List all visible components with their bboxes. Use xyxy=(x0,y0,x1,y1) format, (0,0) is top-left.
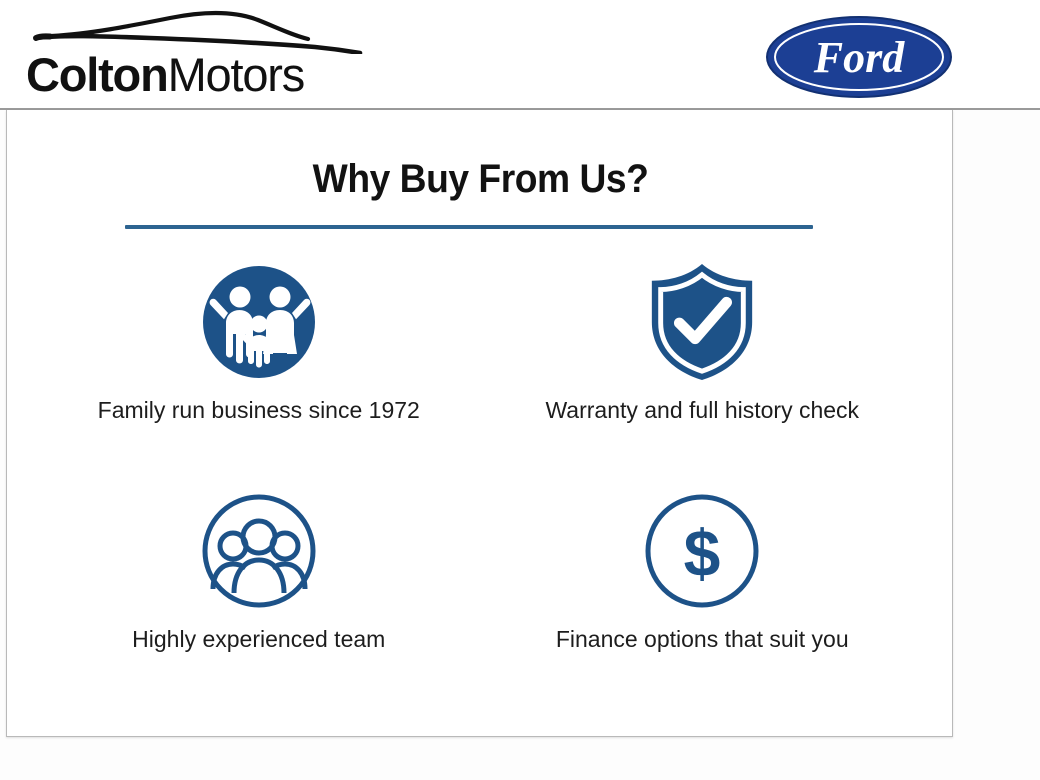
family-icon-wrap xyxy=(199,263,319,381)
feature-item-warranty[interactable]: Warranty and full history check xyxy=(491,255,915,476)
feature-item-family[interactable]: Family run business since 1972 xyxy=(47,255,471,476)
page-header: ColtonMotors Ford xyxy=(0,0,1040,110)
team-icon xyxy=(200,492,318,610)
family-icon xyxy=(201,264,317,380)
feature-caption: Warranty and full history check xyxy=(537,395,867,426)
dollar-glyph: $ xyxy=(684,516,721,590)
brand-name-light: Motors xyxy=(168,48,304,101)
dollar-icon: $ xyxy=(643,492,761,610)
team-icon-wrap xyxy=(199,492,319,610)
colton-motors-logo[interactable]: ColtonMotors xyxy=(26,8,396,104)
feature-item-team[interactable]: Highly experienced team xyxy=(47,484,471,705)
ford-oval-logo[interactable]: Ford xyxy=(766,16,952,98)
page-title: Why Buy From Us? xyxy=(40,157,921,202)
brand-wordmark: ColtonMotors xyxy=(26,46,396,104)
why-buy-panel: Why Buy From Us? xyxy=(6,110,953,737)
shield-icon-wrap xyxy=(642,263,762,381)
feature-grid: Family run business since 1972 Warranty … xyxy=(47,255,914,705)
feature-caption: Finance options that suit you xyxy=(537,624,867,655)
feature-item-finance[interactable]: $ Finance options that suit you xyxy=(491,484,915,705)
feature-caption: Highly experienced team xyxy=(94,624,424,655)
title-underline xyxy=(125,225,813,229)
shield-check-icon xyxy=(642,260,762,384)
slide-canvas: ColtonMotors Ford Why Buy From Us? xyxy=(0,0,1040,780)
feature-caption: Family run business since 1972 xyxy=(94,395,424,426)
dollar-icon-wrap: $ xyxy=(642,492,762,610)
brand-name-bold: Colton xyxy=(26,48,168,101)
ford-wordmark: Ford xyxy=(813,33,905,82)
